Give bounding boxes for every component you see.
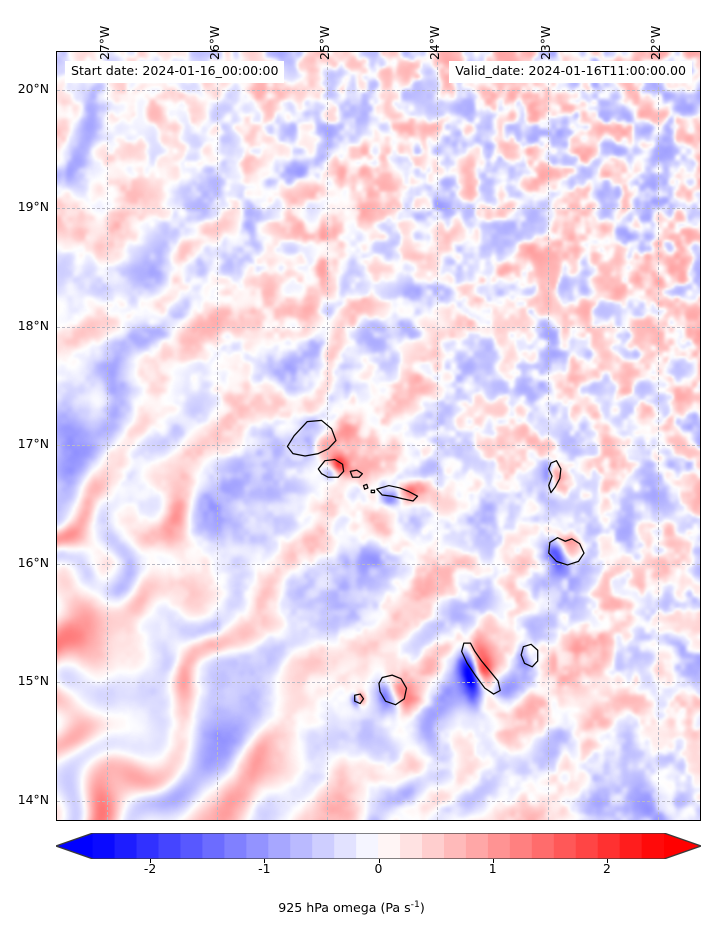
colorbar-tick-label-4: 2 xyxy=(603,861,611,876)
colorbar-tick-label-2: 0 xyxy=(375,861,383,876)
colorbar-gradient xyxy=(56,833,701,859)
x-tick-label-3: 24°W xyxy=(427,26,442,60)
x-tick-label-5: 22°W xyxy=(648,26,663,60)
y-tick-label-2: 18°N xyxy=(0,318,49,333)
coastline-sao-nicolau xyxy=(377,486,418,501)
y-tick-label-0: 20°N xyxy=(0,81,49,96)
colorbar-tick-mark-1 xyxy=(264,859,265,863)
colorbar-tick-label-1: -1 xyxy=(258,861,270,876)
coastline-boa-vista xyxy=(549,538,584,565)
x-tick-label-4: 23°W xyxy=(538,26,553,60)
coastlines-svg xyxy=(57,52,701,821)
figure-canvas: Start date: 2024-01-16_00:00:00 Valid_da… xyxy=(0,0,703,936)
y-tick-label-4: 16°N xyxy=(0,555,49,570)
coastline-santa-luzia xyxy=(350,470,362,477)
coastline-branco xyxy=(364,484,368,489)
colorbar-tick-label-3: 1 xyxy=(489,861,497,876)
y-tick-label-5: 15°N xyxy=(0,673,49,688)
coastline-brava xyxy=(355,694,364,703)
colorbar[interactable] xyxy=(56,833,701,859)
coastline-sal xyxy=(549,461,561,493)
colorbar-label-suffix: ) xyxy=(420,900,425,915)
coastline-santo-antao xyxy=(287,420,336,456)
x-tick-label-0: 27°W xyxy=(97,26,112,60)
x-tick-label-2: 25°W xyxy=(317,26,332,60)
coastline-santiago xyxy=(462,643,501,694)
y-tick-label-3: 17°N xyxy=(0,436,49,451)
colorbar-axis-label: 925 hPa omega (Pa s-1) xyxy=(0,899,703,915)
colorbar-tick-label-0: -2 xyxy=(144,861,156,876)
colorbar-label-exponent: -1 xyxy=(411,899,420,910)
x-tick-label-1: 26°W xyxy=(207,26,222,60)
y-tick-label-6: 14°N xyxy=(0,792,49,807)
coastline-maio xyxy=(521,644,538,667)
coastline-sao-vicente xyxy=(318,460,343,478)
colorbar-label-text: 925 hPa omega (Pa s xyxy=(278,900,410,915)
y-tick-label-1: 19°N xyxy=(0,199,49,214)
coastline-raso xyxy=(371,490,374,492)
colorbar-tick-mark-0 xyxy=(150,859,151,863)
colorbar-tick-mark-2 xyxy=(379,859,380,863)
map-axes[interactable]: Start date: 2024-01-16_00:00:00 Valid_da… xyxy=(56,51,701,821)
colorbar-tick-mark-3 xyxy=(493,859,494,863)
coastline-fogo xyxy=(379,675,407,705)
colorbar-tick-mark-4 xyxy=(607,859,608,863)
